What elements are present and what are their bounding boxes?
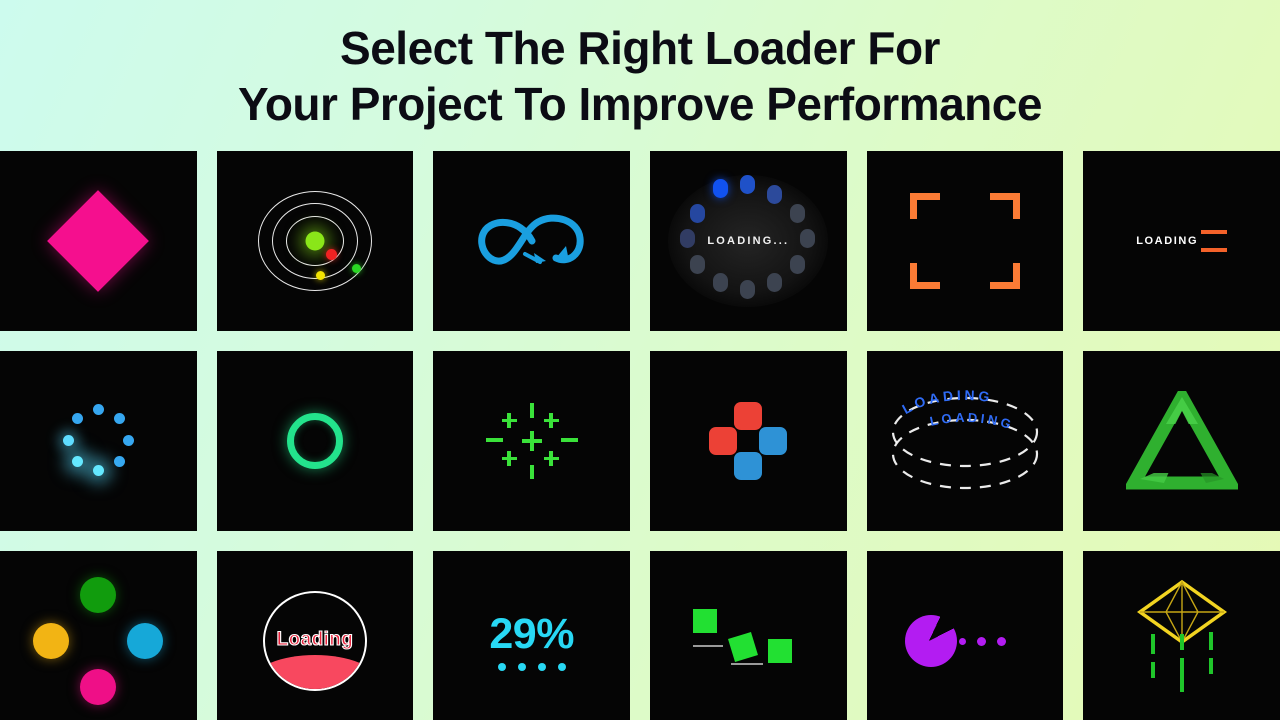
ring-pill-12 xyxy=(690,204,705,223)
green-ring-icon xyxy=(287,413,343,469)
ring-pill-6 xyxy=(790,255,805,274)
sparkle-dash-top xyxy=(530,403,534,418)
percent-stage: 29% xyxy=(433,551,630,720)
percent-dot-4 xyxy=(558,663,566,671)
liquid-fill-circle-icon: Loading xyxy=(263,591,367,691)
spinner-dot-6 xyxy=(72,456,83,467)
loader-cell-plus-sparkle[interactable] xyxy=(433,351,630,531)
plus-sparkle-stage xyxy=(433,351,630,531)
loader-cell-corner-brackets[interactable] xyxy=(867,151,1064,331)
spinner-dot-3 xyxy=(123,435,134,446)
orbit-text-stage: LOADING LOADING xyxy=(867,351,1064,531)
gem-ray-2 xyxy=(1151,662,1155,678)
spinner-dot-5 xyxy=(93,465,104,476)
page-title-line-2: Your Project To Improve Performance xyxy=(0,76,1280,132)
orbit-planet-red-icon xyxy=(326,249,337,260)
gem-ray-4 xyxy=(1180,658,1184,692)
ring-pill-2 xyxy=(740,175,755,194)
bounce-ground-2 xyxy=(731,663,763,665)
blue-spinner-stage xyxy=(0,351,197,531)
loader-cell-bouncing-squares[interactable] xyxy=(650,551,847,720)
loader-cell-infinity[interactable] xyxy=(433,151,630,331)
bounce-square-3 xyxy=(768,639,792,663)
brackets-stage xyxy=(867,151,1064,331)
liquid-circle-stage: Loading xyxy=(217,551,414,720)
percent-dot-2 xyxy=(518,663,526,671)
diamond-stage xyxy=(0,151,197,331)
loader-cell-percent[interactable]: 29% xyxy=(433,551,630,720)
circle-bottom-pink xyxy=(80,669,116,705)
four-squares-icon xyxy=(709,402,787,480)
plus-sparkle-icon xyxy=(486,403,578,479)
dot-ring-stage: LOADING... xyxy=(650,151,847,331)
pacman-dots xyxy=(959,637,1006,646)
bracket-top-left-icon xyxy=(910,193,940,219)
ring-pill-4 xyxy=(790,204,805,223)
dot-ring-label: LOADING... xyxy=(707,235,789,247)
orbit-planet-green-icon xyxy=(352,264,361,273)
loader-cell-pacman[interactable] xyxy=(867,551,1064,720)
ring-pill-11 xyxy=(680,229,695,248)
square-left-red xyxy=(709,427,737,455)
orbit-planet-yellow-icon xyxy=(316,271,325,280)
percent-dots xyxy=(489,663,574,671)
bounce-ground-1 xyxy=(693,645,723,647)
loader-cell-orbit[interactable] xyxy=(217,151,414,331)
pacman-dot-3 xyxy=(997,637,1006,646)
penrose-triangle-icon xyxy=(1126,391,1238,491)
sparkle-dash-left xyxy=(486,438,503,442)
gem-ray-1 xyxy=(1151,634,1155,654)
bracket-top-right-icon xyxy=(990,193,1020,219)
ring-pill-10 xyxy=(690,255,705,274)
infinity-stage xyxy=(433,151,630,331)
ring-pill-8 xyxy=(740,280,755,299)
spinner-dot-1 xyxy=(93,404,104,415)
ring-pill-7 xyxy=(767,273,782,292)
diamond-shape-icon xyxy=(47,190,149,292)
liquid-fill-level xyxy=(263,655,367,691)
circle-right-blue xyxy=(127,623,163,659)
four-squares-stage xyxy=(650,351,847,531)
bracket-bottom-left-icon xyxy=(910,263,940,289)
bounce-square-2 xyxy=(728,632,758,662)
gem-ray-6 xyxy=(1209,658,1213,674)
blue-dot-spinner-icon xyxy=(61,404,135,478)
loading-bars-label: LOADING xyxy=(1136,235,1198,247)
percent-dot-1 xyxy=(498,663,506,671)
loader-cell-gem-rays[interactable] xyxy=(1083,551,1280,720)
bracket-bottom-right-icon xyxy=(990,263,1020,289)
pacman-head-icon xyxy=(905,615,957,667)
infinity-loop-icon xyxy=(470,206,594,276)
orbit-text-label-lower: LOADING xyxy=(929,410,1016,433)
percent-dot-3 xyxy=(538,663,546,671)
loader-cell-diamond[interactable] xyxy=(0,151,197,331)
loader-cell-four-circles[interactable] xyxy=(0,551,197,720)
orbit-text-ellipse-icon: LOADING LOADING xyxy=(879,382,1051,500)
spinner-dot-2 xyxy=(114,413,125,424)
pacman-icon xyxy=(905,611,1025,671)
loader-grid: LOADING... LOADING xyxy=(0,151,1280,720)
four-circles-stage xyxy=(0,551,197,720)
loading-bars-marks xyxy=(1201,228,1227,254)
ring-pill-3 xyxy=(767,185,782,204)
page-title: Select The Right Loader For Your Project… xyxy=(0,20,1280,132)
dot-ring-icon: LOADING... xyxy=(672,177,824,305)
spinner-dot-4 xyxy=(114,456,125,467)
ring-pill-5 xyxy=(800,229,815,248)
page-title-line-1: Select The Right Loader For xyxy=(0,20,1280,76)
square-bottom-blue xyxy=(734,452,762,480)
bounce-square-1 xyxy=(693,609,717,633)
gem-ray-5 xyxy=(1209,632,1213,650)
orbit-center-sun-icon xyxy=(305,232,324,251)
loader-cell-orbit-text[interactable]: LOADING LOADING xyxy=(867,351,1064,531)
percent-value: 29% xyxy=(489,612,574,656)
pacman-stage xyxy=(867,551,1064,720)
loader-cell-four-squares[interactable] xyxy=(650,351,847,531)
sparkle-dash-bottom xyxy=(530,465,534,479)
gem-ray-group xyxy=(1130,630,1234,704)
pacman-dot-1 xyxy=(959,638,966,645)
bouncing-squares-icon xyxy=(693,605,803,677)
liquid-circle-label: Loading xyxy=(277,629,354,651)
loader-cell-penrose[interactable] xyxy=(1083,351,1280,531)
orbit-icon xyxy=(255,186,375,296)
spinner-dot-8 xyxy=(72,413,83,424)
loading-bars-icon: LOADING xyxy=(1136,228,1227,254)
square-right-blue xyxy=(759,427,787,455)
four-circles-icon xyxy=(33,577,163,705)
loader-cell-green-ring[interactable] xyxy=(217,351,414,531)
ring-pill-1 xyxy=(713,179,728,198)
spinner-dot-7 xyxy=(63,435,74,446)
loader-cell-dot-ring[interactable]: LOADING... xyxy=(650,151,847,331)
circle-left-yellow xyxy=(33,623,69,659)
circle-top-green xyxy=(80,577,116,613)
page-root: Select The Right Loader For Your Project… xyxy=(0,0,1280,720)
ring-pill-9 xyxy=(713,273,728,292)
loading-bar-top xyxy=(1201,230,1227,234)
loading-bars-stage: LOADING xyxy=(1083,151,1280,331)
gem-ray-3 xyxy=(1180,634,1184,650)
pacman-dot-2 xyxy=(977,637,986,646)
percent-counter-icon: 29% xyxy=(489,612,574,671)
gem-rays-stage xyxy=(1083,551,1280,720)
orbit-stage xyxy=(217,151,414,331)
square-top-red xyxy=(734,402,762,430)
loader-cell-loading-bars[interactable]: LOADING xyxy=(1083,151,1280,331)
penrose-stage xyxy=(1083,351,1280,531)
loading-bar-bottom xyxy=(1201,248,1227,252)
corner-brackets-icon xyxy=(910,193,1020,289)
green-ring-stage xyxy=(217,351,414,531)
loader-cell-blue-dot-spinner[interactable] xyxy=(0,351,197,531)
sparkle-dash-right xyxy=(561,438,578,442)
bouncing-squares-stage xyxy=(650,551,847,720)
gem-rays-icon xyxy=(1130,578,1234,704)
loader-cell-liquid-circle[interactable]: Loading xyxy=(217,551,414,720)
